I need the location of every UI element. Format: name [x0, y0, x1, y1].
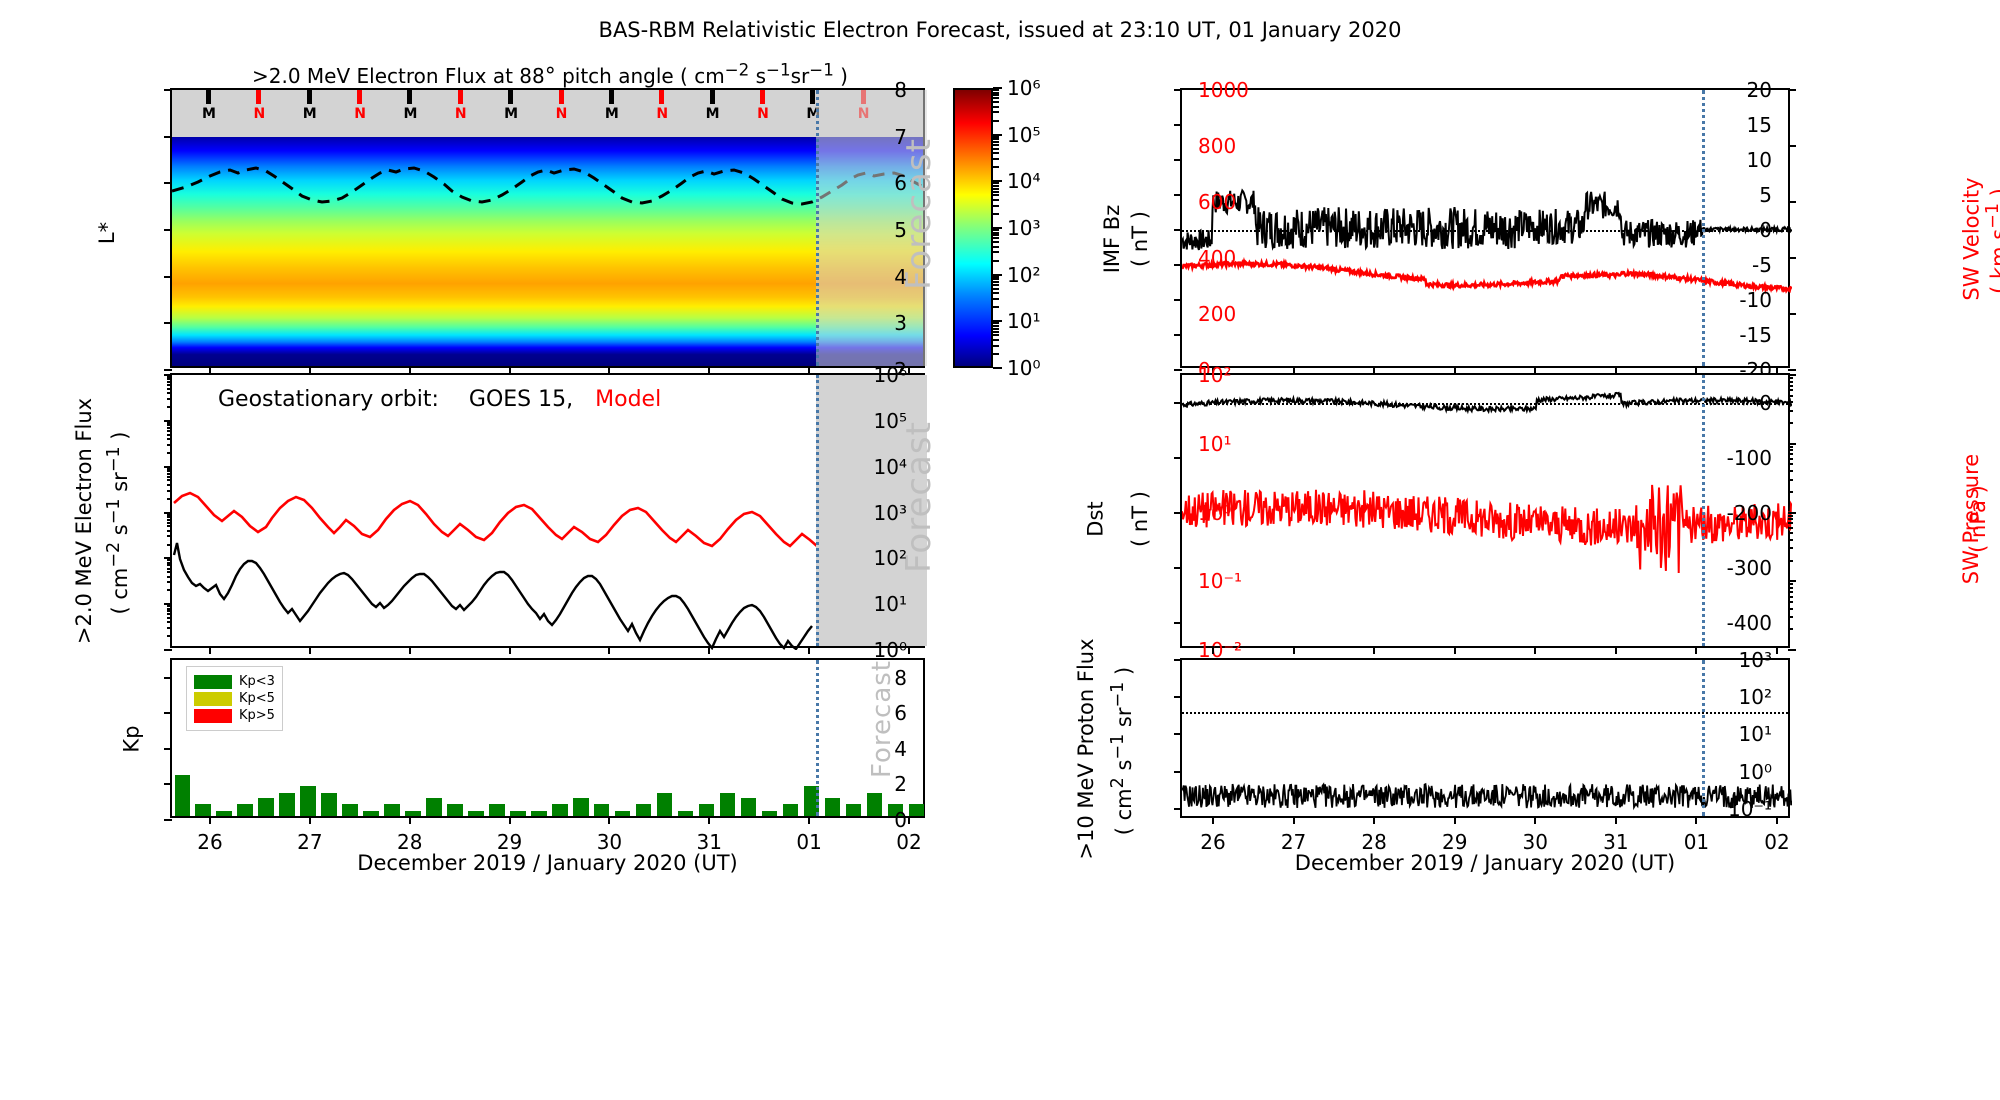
kp-bar	[279, 793, 295, 816]
colorbar-minor-tick	[993, 97, 999, 99]
tick-mark	[1174, 229, 1182, 231]
tick-mark	[509, 816, 511, 824]
axis-tick-label: 10¹	[874, 592, 907, 616]
colorbar-minor-tick	[993, 213, 999, 215]
colorbar-minor-tick	[993, 288, 999, 290]
colorbar-minor-tick	[993, 92, 999, 94]
minor-tick	[167, 613, 172, 615]
minor-tick	[1788, 449, 1793, 451]
colorbar-minor-tick	[993, 345, 999, 347]
axis-tick-label: 7	[894, 125, 907, 149]
minor-tick	[1788, 446, 1793, 448]
tick-mark	[509, 646, 511, 654]
geostationary-flux-axes: Geostationary orbit: GOES 15, Model Fore…	[170, 373, 925, 648]
flux-colorbar	[953, 88, 993, 368]
minor-tick	[167, 635, 172, 637]
kp-bar	[175, 775, 191, 816]
proton-ylabel-line2: ( cm2 s−1 sr−1 )	[1112, 667, 1136, 835]
tick-mark	[1776, 646, 1778, 654]
axis-tick-label: -100	[1727, 446, 1772, 470]
colorbar-minor-tick	[993, 188, 999, 190]
colorbar-minor-tick	[993, 241, 999, 243]
kp-bar	[405, 811, 421, 816]
forecast-divider-proton	[1702, 660, 1705, 816]
tick-mark	[1788, 443, 1796, 445]
minor-tick	[167, 452, 172, 454]
dst-ylabel: Dst	[1078, 508, 1113, 530]
kp-bar	[615, 811, 631, 816]
colorbar-minor-tick	[993, 353, 999, 355]
colorbar-minor-tick	[993, 191, 999, 193]
tick-mark	[164, 712, 172, 714]
kp-bar	[384, 804, 400, 816]
tick-mark	[164, 182, 172, 184]
left-xaxis-label: December 2019 / January 2020 (UT)	[170, 852, 925, 874]
axis-tick-label: 0	[1759, 218, 1772, 242]
tick-mark	[1174, 124, 1182, 126]
minor-tick	[1788, 628, 1793, 630]
minor-tick	[1788, 518, 1793, 520]
proton-ylabel-line1: >10 MeV Proton Flux	[1074, 638, 1098, 859]
colorbar-minor-tick	[993, 182, 999, 184]
minor-tick	[1788, 527, 1793, 529]
colorbar-minor-tick	[993, 89, 999, 91]
tick-mark	[1174, 334, 1182, 336]
forecast-divider-lstar	[816, 90, 819, 366]
colorbar-minor-tick	[993, 158, 999, 160]
minor-tick	[1788, 583, 1793, 585]
kp-bar	[573, 798, 589, 816]
figure-title: BAS-RBM Relativistic Electron Forecast, …	[0, 18, 2000, 42]
tick-mark	[164, 276, 172, 278]
tick-mark	[1212, 646, 1214, 654]
minor-tick	[167, 376, 172, 378]
colorbar-minor-tick	[993, 141, 999, 143]
kp-bar	[237, 804, 253, 816]
tick-mark	[908, 646, 910, 654]
forecast-watermark-kp: Forecast	[867, 629, 897, 809]
axis-tick-label: 5	[894, 218, 907, 242]
minor-tick	[167, 406, 172, 408]
tick-mark	[1695, 646, 1697, 654]
colorbar-minor-tick	[993, 120, 999, 122]
axis-tick-label: 600	[1198, 190, 1236, 214]
geo-ylabel-line2: ( cm−2 s−1 sr−1 )	[108, 431, 132, 614]
axis-tick-label: 10⁻¹	[1728, 797, 1772, 821]
colorbar-minor-tick	[993, 166, 999, 168]
colorbar-minor-tick	[993, 251, 999, 253]
axis-tick-label: 10⁵	[874, 409, 907, 433]
tick-mark	[1293, 816, 1295, 824]
minor-tick	[167, 490, 172, 492]
colorbar-minor-tick	[993, 199, 999, 201]
kp-bar	[825, 798, 841, 816]
tick-mark	[1174, 733, 1182, 735]
minor-tick	[1788, 389, 1793, 391]
axis-tick-label: 10³	[874, 501, 907, 525]
minor-tick	[167, 424, 172, 426]
axis-tick-label: -400	[1727, 611, 1772, 635]
minor-tick	[1788, 532, 1793, 534]
colorbar-tick	[993, 367, 1002, 369]
lstar-ylabel: L*	[96, 222, 118, 244]
tick-mark	[164, 89, 172, 91]
dst-pressure-traces	[1182, 375, 1792, 650]
tick-mark	[808, 646, 810, 654]
minor-tick	[167, 519, 172, 521]
tick-mark	[1615, 816, 1617, 824]
tick-mark	[1695, 816, 1697, 824]
minor-tick	[1788, 616, 1793, 618]
minor-tick	[167, 559, 172, 561]
colorbar-minor-tick	[993, 106, 999, 108]
tick-mark	[1174, 659, 1182, 661]
tick-mark	[1454, 646, 1456, 654]
kp-bar	[258, 798, 274, 816]
colorbar-minor-tick	[993, 281, 999, 283]
tick-mark	[1174, 808, 1182, 810]
tick-mark	[608, 646, 610, 654]
kp-bar	[342, 804, 358, 816]
minor-tick	[167, 621, 172, 623]
kp-bar	[363, 811, 379, 816]
axis-tick-label: -5	[1752, 253, 1772, 277]
tick-mark	[1776, 816, 1778, 824]
minor-tick	[167, 468, 172, 470]
minor-tick	[1788, 410, 1793, 412]
minor-tick	[1788, 401, 1793, 403]
minor-tick	[1788, 458, 1793, 460]
tick-mark	[164, 819, 172, 821]
axis-tick-label: -10	[1739, 288, 1772, 312]
axis-tick-label: 10	[1747, 148, 1772, 172]
axis-tick-label: 02	[1764, 830, 1789, 854]
axis-tick-label: 26	[1200, 830, 1225, 854]
kp-bar	[531, 811, 547, 816]
minor-tick	[1788, 608, 1793, 610]
minor-tick	[167, 617, 172, 619]
axis-tick-label: 10¹	[1739, 722, 1772, 746]
tick-mark	[1788, 649, 1796, 651]
axis-tick-label: -15	[1739, 323, 1772, 347]
minor-tick	[1788, 479, 1793, 481]
dst-axes: -400-300-200-1000 10⁻²10⁻¹10⁰10¹10²	[1180, 373, 1790, 648]
tick-mark	[209, 646, 211, 654]
colorbar-minor-tick	[993, 298, 999, 300]
colorbar-minor-tick	[993, 144, 999, 146]
right-xaxis-label: December 2019 / January 2020 (UT)	[1180, 852, 1790, 874]
tick-mark	[1788, 374, 1796, 376]
colorbar-minor-tick	[993, 334, 999, 336]
minor-tick	[167, 514, 172, 516]
tick-mark	[164, 369, 172, 371]
axis-tick-label: 400	[1198, 246, 1236, 270]
kp-bar	[636, 804, 652, 816]
axis-tick-label: 01	[796, 830, 821, 854]
minor-tick	[167, 581, 172, 583]
minor-tick	[1788, 377, 1793, 379]
minor-tick	[167, 576, 172, 578]
colorbar-tick-label: 10²	[1007, 263, 1040, 287]
tick-mark	[1788, 201, 1796, 203]
minor-tick	[167, 438, 172, 440]
tick-mark	[164, 748, 172, 750]
tick-mark	[1788, 145, 1796, 147]
kp-bar	[321, 793, 337, 816]
kp-bar	[510, 811, 526, 816]
tick-mark	[1174, 194, 1182, 196]
tick-mark	[1788, 369, 1796, 371]
axis-tick-label: 02	[896, 830, 921, 854]
axis-tick-label: 10⁶	[874, 363, 907, 387]
minor-tick	[167, 388, 172, 390]
tick-mark	[1174, 696, 1182, 698]
axis-tick-label: 8	[894, 666, 907, 690]
axis-tick-label: 6	[894, 171, 907, 195]
minor-tick	[1788, 539, 1793, 541]
kp-bar-series	[172, 656, 923, 816]
minor-tick	[167, 568, 172, 570]
minor-tick	[1788, 453, 1793, 455]
forecast-divider-kp	[816, 660, 819, 816]
geo-flux-traces	[172, 375, 927, 650]
minor-tick	[1788, 560, 1793, 562]
colorbar-minor-tick	[993, 111, 999, 113]
minor-tick	[167, 381, 172, 383]
kp-bar	[720, 793, 736, 816]
kp-bar	[594, 804, 610, 816]
colorbar-minor-tick	[993, 232, 999, 234]
axis-tick-label: 1000	[1198, 78, 1249, 102]
tick-mark	[1788, 89, 1796, 91]
axis-tick-label: 20	[1747, 78, 1772, 102]
minor-tick	[167, 627, 172, 629]
tick-mark	[608, 816, 610, 824]
minor-tick	[1788, 587, 1793, 589]
minor-tick	[167, 392, 172, 394]
tick-mark	[1373, 816, 1375, 824]
minor-tick	[167, 430, 172, 432]
colorbar-minor-tick	[993, 322, 999, 324]
tick-mark	[164, 677, 172, 679]
tick-mark	[1212, 816, 1214, 824]
tick-mark	[309, 816, 311, 824]
colorbar-tick-label: 10⁵	[1007, 123, 1040, 147]
colorbar-minor-tick	[993, 229, 999, 231]
kp-bar	[195, 804, 211, 816]
axis-tick-label: 27	[297, 830, 322, 854]
kp-ylabel: Kp	[118, 728, 145, 750]
colorbar-minor-tick	[993, 148, 999, 150]
kp-bar	[699, 804, 715, 816]
kp-bar	[783, 804, 799, 816]
bz-velocity-traces	[1182, 90, 1792, 370]
axis-tick-label: 10²	[1739, 685, 1772, 709]
minor-tick	[167, 516, 172, 518]
axis-tick-label: 10⁻¹	[1198, 569, 1242, 593]
colorbar-minor-tick	[993, 339, 999, 341]
colorbar-minor-tick	[993, 328, 999, 330]
minor-tick	[167, 564, 172, 566]
tick-mark	[164, 229, 172, 231]
dst-ylabel-units: ( nT )	[1112, 508, 1168, 530]
minor-tick	[167, 473, 172, 475]
tick-mark	[164, 136, 172, 138]
kp-bar	[468, 811, 484, 816]
axis-tick-label: 5	[1759, 183, 1772, 207]
minor-tick	[167, 562, 172, 564]
tick-mark	[1174, 622, 1182, 624]
axis-tick-label: 01	[1684, 830, 1709, 854]
axis-tick-label: 200	[1198, 302, 1236, 326]
axis-tick-label: 6	[894, 701, 907, 725]
axis-tick-label: 10²	[874, 546, 907, 570]
minor-tick	[167, 422, 172, 424]
tick-mark	[708, 646, 710, 654]
axis-tick-label: 0	[1759, 391, 1772, 415]
tick-mark	[409, 816, 411, 824]
tick-mark	[1174, 457, 1182, 459]
axis-tick-label: 10⁰	[1198, 501, 1231, 525]
colorbar-minor-tick	[993, 278, 999, 280]
imf-bz-axes: -20-15-10-505101520 02004006008001000	[1180, 88, 1790, 368]
minor-tick	[167, 608, 172, 610]
colorbar-minor-tick	[993, 276, 999, 278]
forecast-divider-dst	[1702, 375, 1705, 646]
colorbar-tick-label: 10⁶	[1007, 76, 1040, 100]
axis-tick-label: 10¹	[1198, 432, 1231, 456]
tick-mark	[1174, 89, 1182, 91]
tick-mark	[1293, 646, 1295, 654]
minor-tick	[1788, 463, 1793, 465]
axis-tick-label: 15	[1747, 113, 1772, 137]
minor-tick	[167, 470, 172, 472]
colorbar-minor-tick	[993, 237, 999, 239]
colorbar-minor-tick	[993, 306, 999, 308]
drift-shell-dashed-line	[172, 90, 927, 370]
tick-mark	[1788, 512, 1796, 514]
tick-mark	[1615, 646, 1617, 654]
minor-tick	[1788, 515, 1793, 517]
tick-mark	[309, 646, 311, 654]
tick-mark	[1174, 512, 1182, 514]
proton-flux-axes: 10⁻¹10⁰10¹10²10³ 2627282930310102	[1180, 658, 1790, 818]
colorbar-minor-tick	[993, 260, 999, 262]
axis-tick-label: 4	[894, 265, 907, 289]
minor-tick	[167, 605, 172, 607]
minor-tick	[1788, 385, 1793, 387]
axis-tick-label: 0	[894, 808, 907, 832]
lstar-panel-title-text: >2.0 MeV Electron Flux at 88° pitch angl…	[252, 64, 848, 88]
colorbar-minor-tick	[993, 325, 999, 327]
geo-ylabel-line1: >2.0 MeV Electron Flux	[72, 398, 96, 644]
forecast-divider-geo	[816, 375, 819, 646]
swp-ylabel-units: ( nPa )	[1944, 508, 2000, 530]
axis-tick-label: 4	[894, 737, 907, 761]
minor-tick	[1788, 591, 1793, 593]
colorbar-minor-tick	[993, 331, 999, 333]
forecast-divider-bz	[1702, 90, 1705, 366]
colorbar-minor-tick	[993, 152, 999, 154]
tick-mark	[1788, 313, 1796, 315]
minor-tick	[167, 610, 172, 612]
minor-tick	[1788, 547, 1793, 549]
tick-mark	[808, 816, 810, 824]
minor-tick	[167, 571, 172, 573]
axis-tick-label: -300	[1727, 556, 1772, 580]
swv-ylabel-units: ( km s−1 )	[1944, 228, 2000, 254]
kp-bar	[741, 798, 757, 816]
tick-mark	[1373, 646, 1375, 654]
colorbar-minor-tick	[993, 284, 999, 286]
minor-tick	[1788, 470, 1793, 472]
axis-tick-label: 10⁴	[874, 455, 907, 479]
axis-tick-label: 10²	[1198, 363, 1231, 387]
lstar-spectrogram-axes: MNMNMNMNMNMNMN Forecast 2345678	[170, 88, 925, 368]
figure-root: BAS-RBM Relativistic Electron Forecast, …	[0, 0, 2000, 1100]
minor-tick	[167, 498, 172, 500]
kp-bar	[300, 786, 316, 816]
colorbar-minor-tick	[993, 246, 999, 248]
tick-mark	[164, 649, 172, 651]
kp-bar	[216, 811, 232, 816]
minor-tick	[1788, 381, 1793, 383]
tick-mark	[1174, 264, 1182, 266]
tick-mark	[1454, 816, 1456, 824]
kp-bar	[447, 804, 463, 816]
tick-mark	[708, 816, 710, 824]
minor-tick	[1788, 596, 1793, 598]
minor-tick	[167, 535, 172, 537]
minor-tick	[167, 589, 172, 591]
proton-flux-trace	[1182, 660, 1792, 820]
minor-tick	[167, 479, 172, 481]
tick-mark	[1788, 257, 1796, 259]
colorbar-tick-label: 10¹	[1007, 309, 1040, 333]
colorbar-minor-tick	[993, 94, 999, 96]
tick-mark	[1534, 816, 1536, 824]
minor-tick	[167, 378, 172, 380]
minor-tick	[167, 484, 172, 486]
colorbar-minor-tick	[993, 194, 999, 196]
colorbar-minor-tick	[993, 292, 999, 294]
minor-tick	[167, 476, 172, 478]
tick-mark	[1174, 159, 1182, 161]
axis-tick-label: 3	[894, 311, 907, 335]
tick-mark	[1788, 580, 1796, 582]
kp-bar	[762, 811, 778, 816]
minor-tick	[1788, 491, 1793, 493]
axis-tick-label: 26	[197, 830, 222, 854]
minor-tick	[1788, 395, 1793, 397]
kp-bar	[909, 804, 925, 816]
minor-tick	[1788, 422, 1793, 424]
minor-tick	[167, 444, 172, 446]
kp-bar	[426, 798, 442, 816]
colorbar-minor-tick	[993, 138, 999, 140]
tick-mark	[1174, 567, 1182, 569]
axis-tick-label: 10³	[1739, 648, 1772, 672]
colorbar-tick-label: 10³	[1007, 216, 1040, 240]
minor-tick	[167, 384, 172, 386]
tick-mark	[209, 816, 211, 824]
colorbar-minor-tick	[993, 101, 999, 103]
axis-tick-label: 8	[894, 78, 907, 102]
minor-tick	[167, 434, 172, 436]
colorbar-minor-tick	[993, 234, 999, 236]
tick-mark	[1174, 402, 1182, 404]
tick-mark	[164, 322, 172, 324]
